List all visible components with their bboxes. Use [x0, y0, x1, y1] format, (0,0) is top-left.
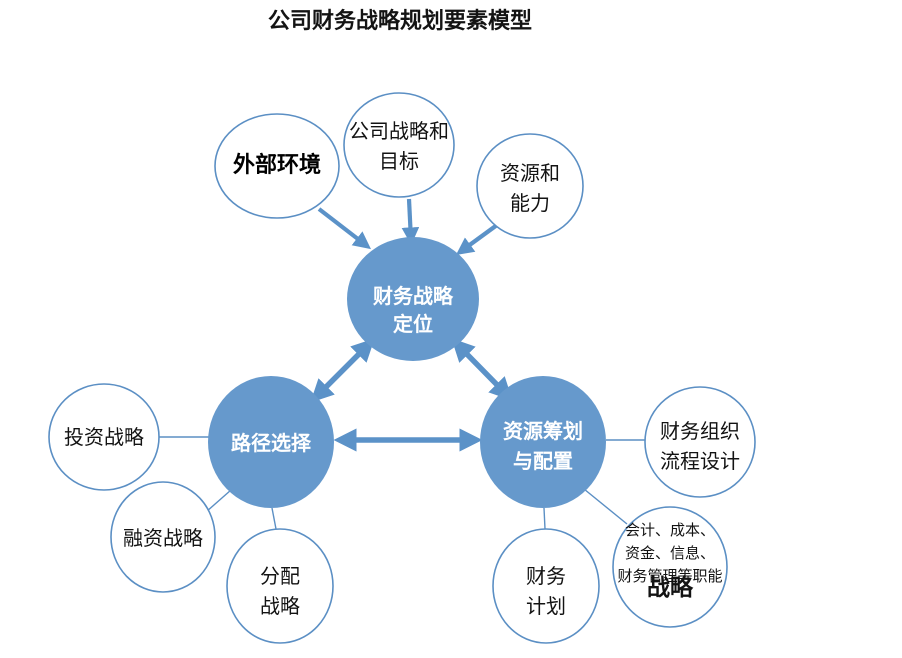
node-functional-strategies[interactable]: 会计、成本、 资金、信息、 财务管理等职能 战略	[613, 507, 727, 627]
core-to-resource-planning-arrow	[456, 343, 508, 396]
company-strategy-goals-label-line1: 公司战略和	[349, 120, 449, 143]
node-resource-planning-allocation[interactable]: 资源筹划 与配置	[480, 376, 606, 508]
node-financial-strategy-positioning[interactable]: 财务战略 定位	[347, 237, 479, 361]
resources-capabilities-label-line1: 资源和	[500, 162, 560, 185]
functional-strategies-label-line2: 资金、信息、	[625, 545, 715, 562]
functional-strategies-connector	[584, 489, 627, 524]
resources-capabilities-circle[interactable]	[477, 134, 583, 238]
financial-plan-label-line1: 财务	[526, 565, 566, 588]
distribution-strategy-connector	[272, 508, 276, 529]
node-investment-strategy[interactable]: 投资战略	[49, 384, 159, 490]
financial-plan-connector	[544, 508, 545, 529]
path-selection-label: 路径选择	[231, 431, 312, 455]
core-to-path-selection-arrow	[315, 343, 370, 398]
functional-strategies-label-line1: 会计、成本、	[625, 522, 715, 539]
financing-strategy-label: 融资战略	[123, 527, 203, 550]
company-strategy-to-core-arrow	[409, 199, 411, 240]
node-financial-plan[interactable]: 财务 计划	[493, 529, 599, 643]
finance-org-process-design-label-line2: 流程设计	[660, 450, 740, 473]
node-distribution-strategy[interactable]: 分配 战略	[227, 529, 333, 643]
external-environment-to-core-arrow	[319, 209, 367, 246]
resource-planning-allocation-label-line1: 资源筹划	[503, 419, 583, 443]
node-finance-org-process-design[interactable]: 财务组织 流程设计	[645, 387, 755, 497]
investment-strategy-label: 投资战略	[64, 426, 144, 449]
external-environment-label: 外部环境	[233, 152, 321, 177]
financial-strategy-positioning-label-line2: 定位	[393, 312, 433, 336]
diagram-canvas: 公司财务战略规划要素模型 外部环境 公司战略和 目标	[0, 0, 902, 653]
finance-org-process-design-label-line1: 财务组织	[660, 420, 740, 443]
financing-strategy-connector	[206, 490, 231, 512]
node-company-strategy-goals[interactable]: 公司战略和 目标	[344, 93, 454, 197]
distribution-strategy-label-line2: 战略	[260, 595, 300, 618]
resources-capabilities-label-line2: 能力	[510, 192, 550, 215]
functional-strategies-label-overlay: 战略	[647, 574, 694, 600]
resource-planning-allocation-label-line2: 与配置	[513, 450, 573, 473]
company-strategy-goals-circle[interactable]	[344, 93, 454, 197]
page-title: 公司财务战略规划要素模型	[268, 8, 532, 33]
financial-strategy-positioning-label-line1: 财务战略	[373, 284, 454, 308]
financial-plan-label-line2: 计划	[526, 595, 566, 618]
distribution-strategy-label-line1: 分配	[260, 565, 300, 588]
node-financing-strategy[interactable]: 融资战略	[111, 482, 215, 592]
company-strategy-goals-label-line2: 目标	[379, 150, 419, 173]
resources-capabilities-to-core-arrow	[460, 225, 497, 252]
financial-strategy-model-diagram: 公司财务战略规划要素模型 外部环境 公司战略和 目标	[0, 0, 902, 653]
node-external-environment[interactable]: 外部环境	[215, 114, 339, 218]
node-resources-capabilities[interactable]: 资源和 能力	[477, 134, 583, 238]
node-path-selection[interactable]: 路径选择	[208, 376, 334, 508]
